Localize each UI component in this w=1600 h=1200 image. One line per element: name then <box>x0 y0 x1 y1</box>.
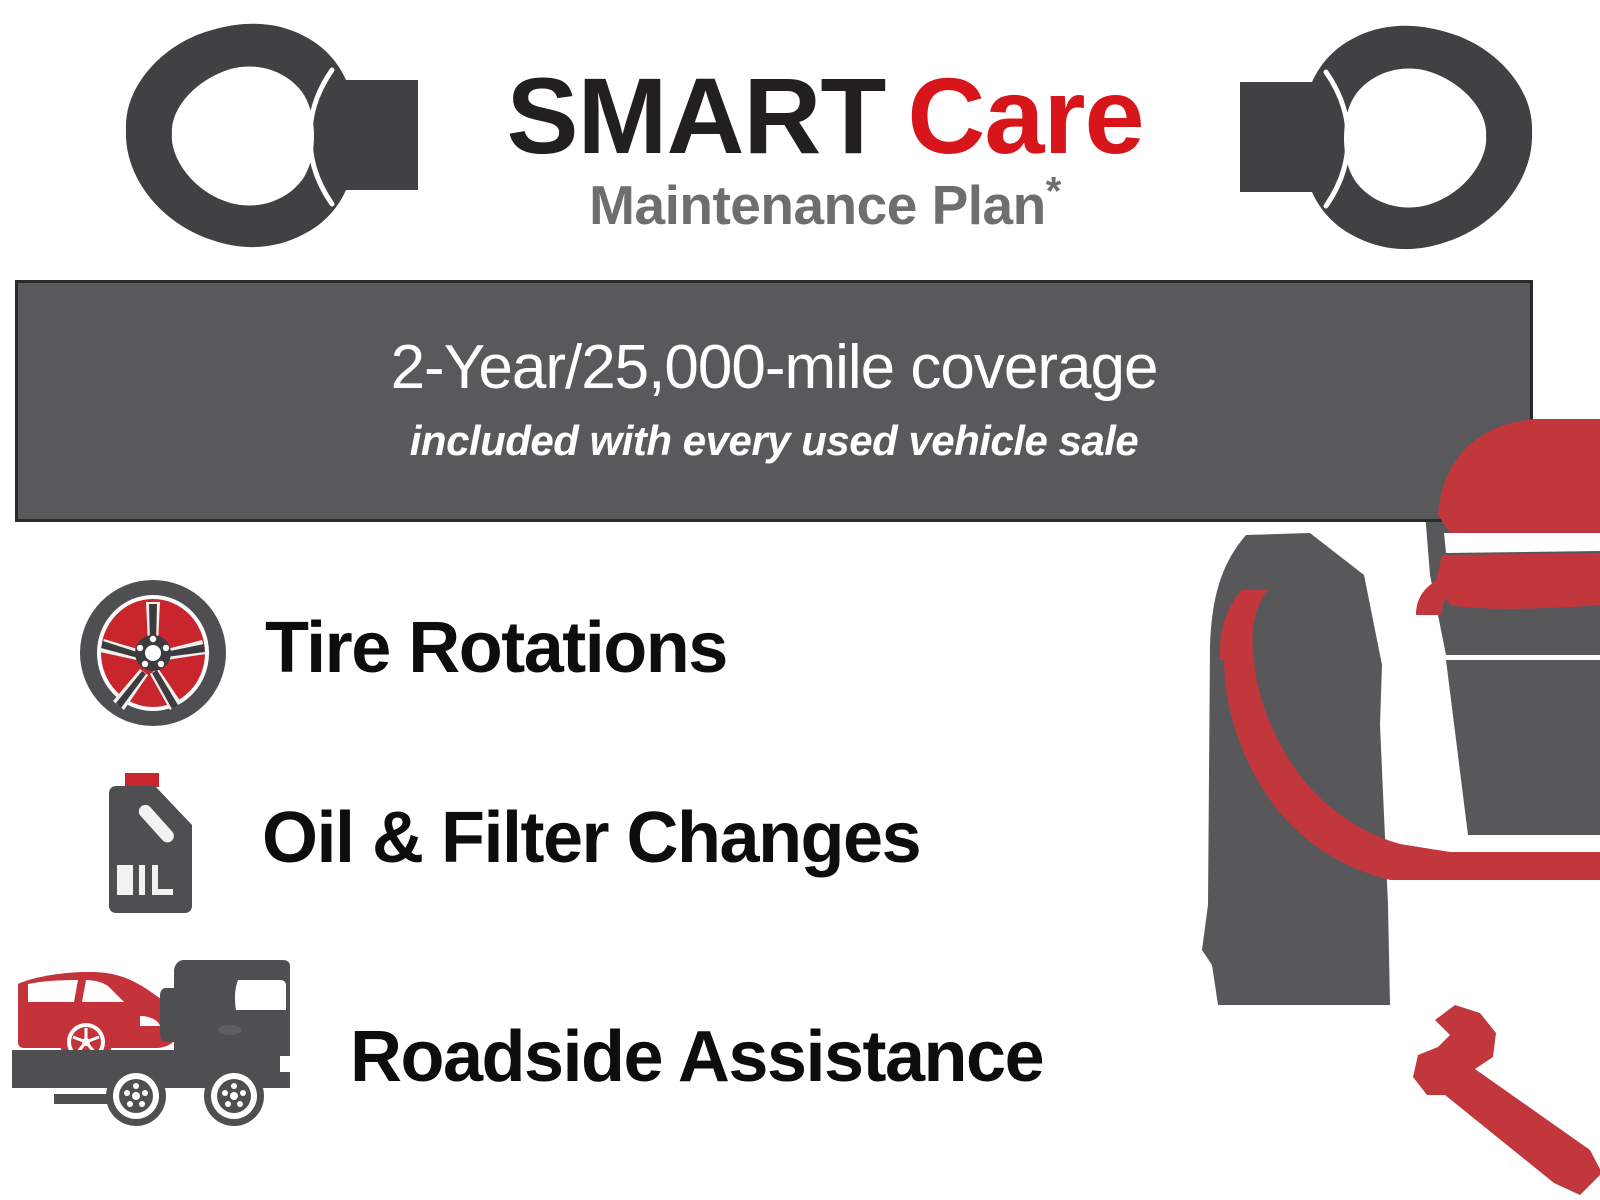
logo-header: SMARTCare Maintenance Plan* <box>0 0 1600 275</box>
oil-bottle-icon <box>103 773 198 913</box>
wrench-icon <box>1240 14 1540 264</box>
feature-list: Tire Rotations Oil & Filter Changes <box>0 545 1160 1169</box>
brand-title-line: SMARTCare <box>430 62 1220 170</box>
list-item: Roadside Assistance <box>0 961 1160 1169</box>
brand-wordmark: SMARTCare Maintenance Plan* <box>430 62 1220 233</box>
brand-tagline: Maintenance Plan <box>589 174 1046 236</box>
list-item: Tire Rotations <box>0 545 1160 753</box>
feature-label: Oil & Filter Changes <box>262 797 920 879</box>
brand-word-smart: SMART <box>506 55 885 176</box>
tow-truck-icon <box>8 946 308 1131</box>
list-item: Oil & Filter Changes <box>0 753 1160 961</box>
feature-label: Roadside Assistance <box>350 1016 1043 1098</box>
smart-care-flyer: SMARTCare Maintenance Plan* 2-Year/25,00… <box>0 0 1600 1200</box>
coverage-subhead: included with every used vehicle sale <box>410 417 1138 465</box>
tire-wheel-icon <box>78 578 228 728</box>
mechanic-head-icon <box>1150 405 1600 615</box>
brand-asterisk: * <box>1046 170 1061 214</box>
coverage-headline: 2-Year/25,000-mile coverage <box>391 332 1158 403</box>
brand-tagline-line: Maintenance Plan* <box>430 178 1220 233</box>
mechanic-face-icon <box>1150 590 1600 880</box>
feature-label: Tire Rotations <box>265 607 727 689</box>
wrench-icon <box>118 12 418 262</box>
brand-word-care: Care <box>907 55 1143 176</box>
wrench-icon <box>1413 1005 1600 1195</box>
